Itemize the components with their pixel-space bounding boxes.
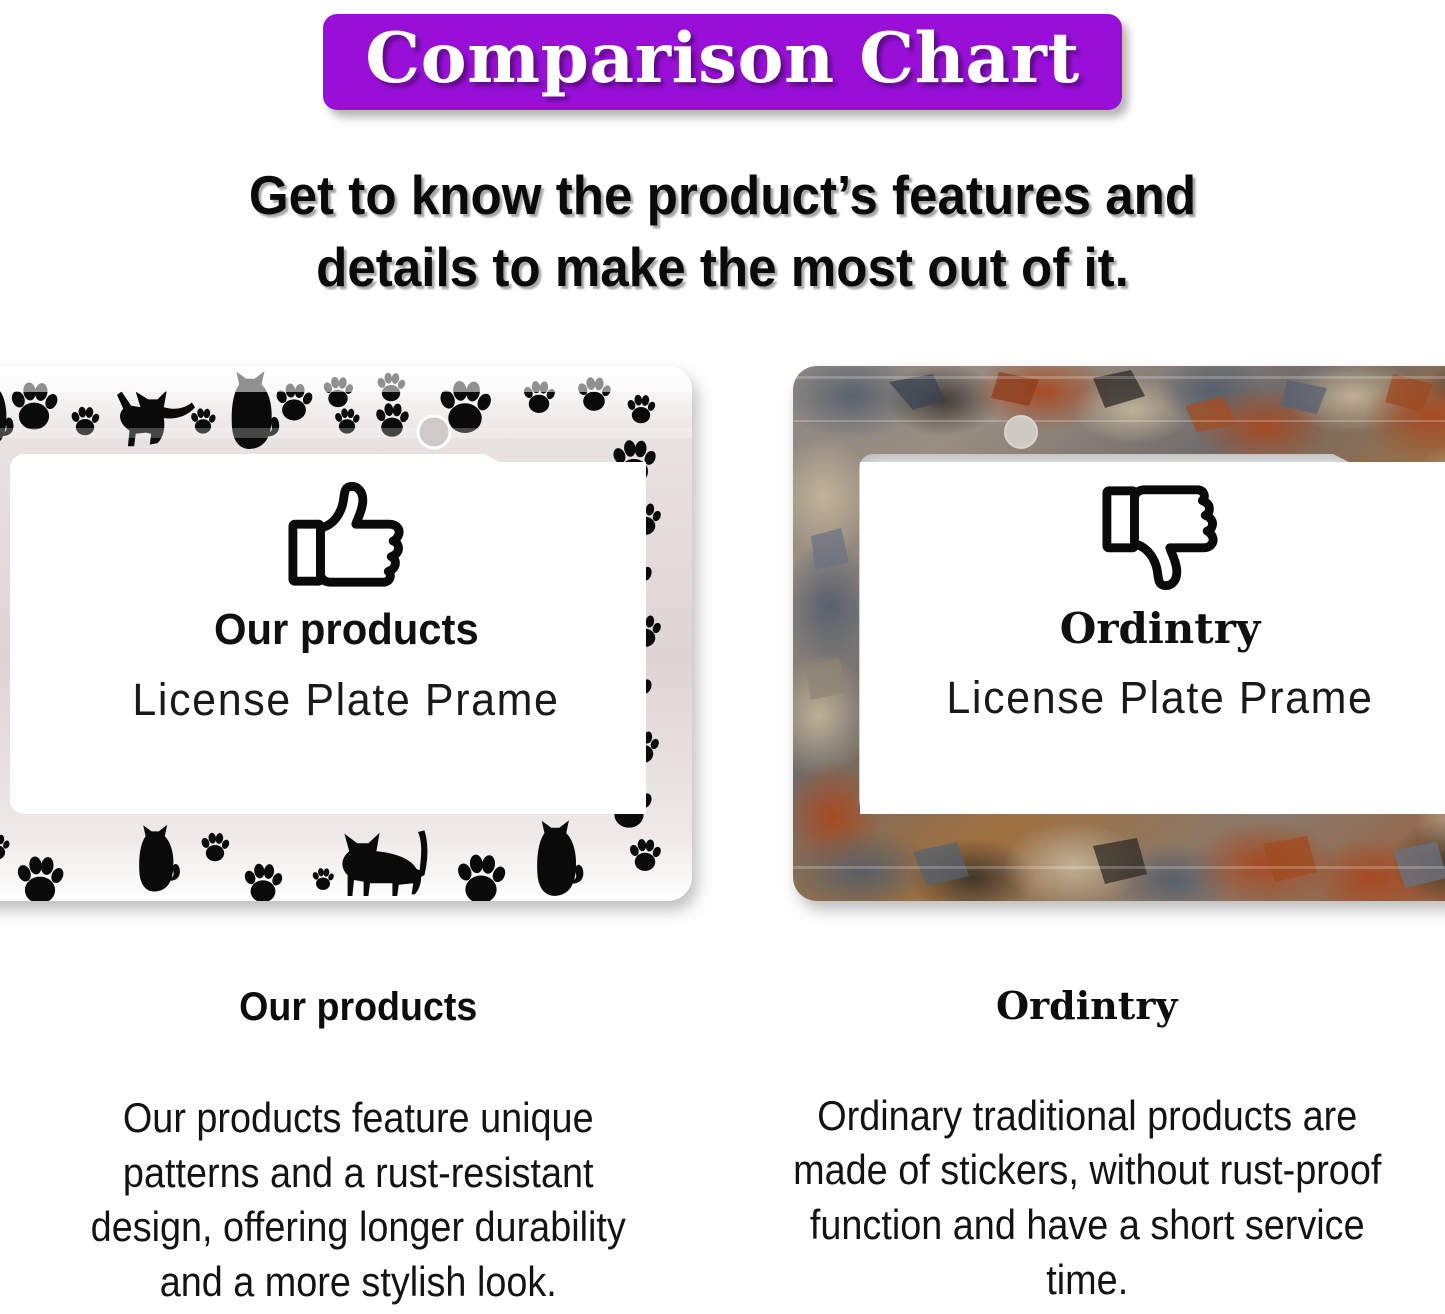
- plate-inner-title-ours: Our products: [214, 606, 479, 654]
- column-heading-ordinary: Ordintry: [759, 985, 1416, 1027]
- comparison-text-row: Our products Our products feature unique…: [0, 985, 1445, 1309]
- thumbs-up-icon: [287, 480, 405, 592]
- plate-inner-subtitle-ordinary: License Plate Prame: [946, 673, 1373, 725]
- plate-inner-subtitle-ours: License Plate Prame: [132, 675, 559, 727]
- plate-inner-ours: Our products License Plate Prame: [46, 462, 646, 814]
- page-subtitle-line-1: Get to know the product’s features and: [153, 160, 1292, 232]
- column-body-ordinary: Ordinary traditional products are made o…: [791, 1089, 1382, 1307]
- mounting-hole: [1005, 416, 1037, 448]
- page-subtitle: Get to know the product’s features and d…: [51, 160, 1395, 303]
- plate-inner-title-ordinary: Ordintry: [1060, 606, 1261, 652]
- column-body-ours: Our products feature unique patterns and…: [63, 1091, 654, 1309]
- comparison-frames-row: Our products License Plate Prame Ordintr…: [0, 366, 1445, 911]
- plate-inner-ordinary: Ordintry License Plate Prame: [860, 462, 1445, 814]
- page-subtitle-line-2: details to make the most out of it.: [153, 232, 1292, 304]
- mounting-hole: [418, 416, 450, 448]
- thumbs-down-icon: [1101, 480, 1219, 592]
- title-banner: Comparison Chart: [323, 14, 1122, 110]
- title-banner-container: Comparison Chart: [0, 14, 1445, 110]
- comparison-column-ordinary: Ordintry Ordinary traditional products a…: [723, 985, 1445, 1309]
- page-title: Comparison Chart: [365, 24, 1080, 94]
- comparison-column-ours: Our products Our products feature unique…: [0, 985, 723, 1309]
- column-heading-ours: Our products: [50, 985, 667, 1029]
